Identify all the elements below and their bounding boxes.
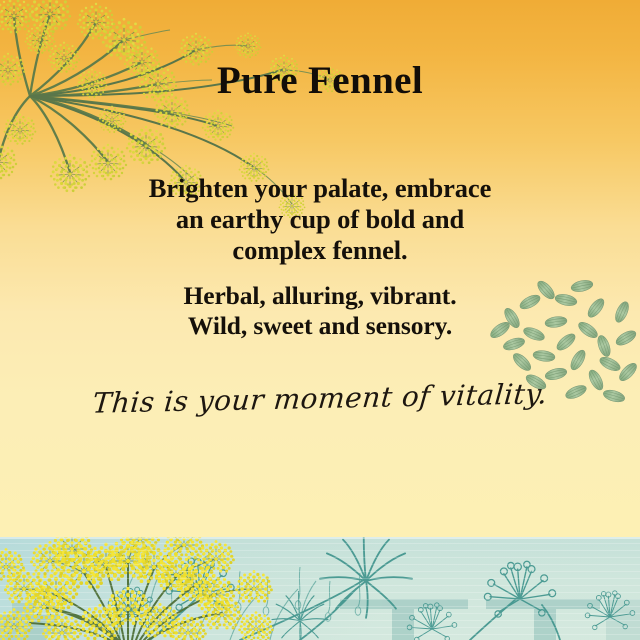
band-top-edge — [0, 537, 640, 539]
paragraph-1-line: complex fennel. — [0, 235, 640, 266]
paragraph-2-line: Herbal, alluring, vibrant. — [0, 281, 640, 311]
band-texture-lines — [0, 537, 640, 640]
bottom-decorative-band — [0, 537, 640, 640]
page-title: Pure Fennel — [0, 61, 640, 100]
paragraph-2-line: Wild, sweet and sensory. — [0, 311, 640, 341]
paragraph-1: Brighten your palate, embrace an earthy … — [0, 173, 640, 266]
paragraph-2: Herbal, alluring, vibrant. Wild, sweet a… — [0, 281, 640, 341]
paragraph-1-line: an earthy cup of bold and — [0, 204, 640, 235]
pure-fennel-card: Pure Fennel Brighten your palate, embrac… — [0, 0, 640, 640]
paragraph-1-line: Brighten your palate, embrace — [0, 173, 640, 204]
